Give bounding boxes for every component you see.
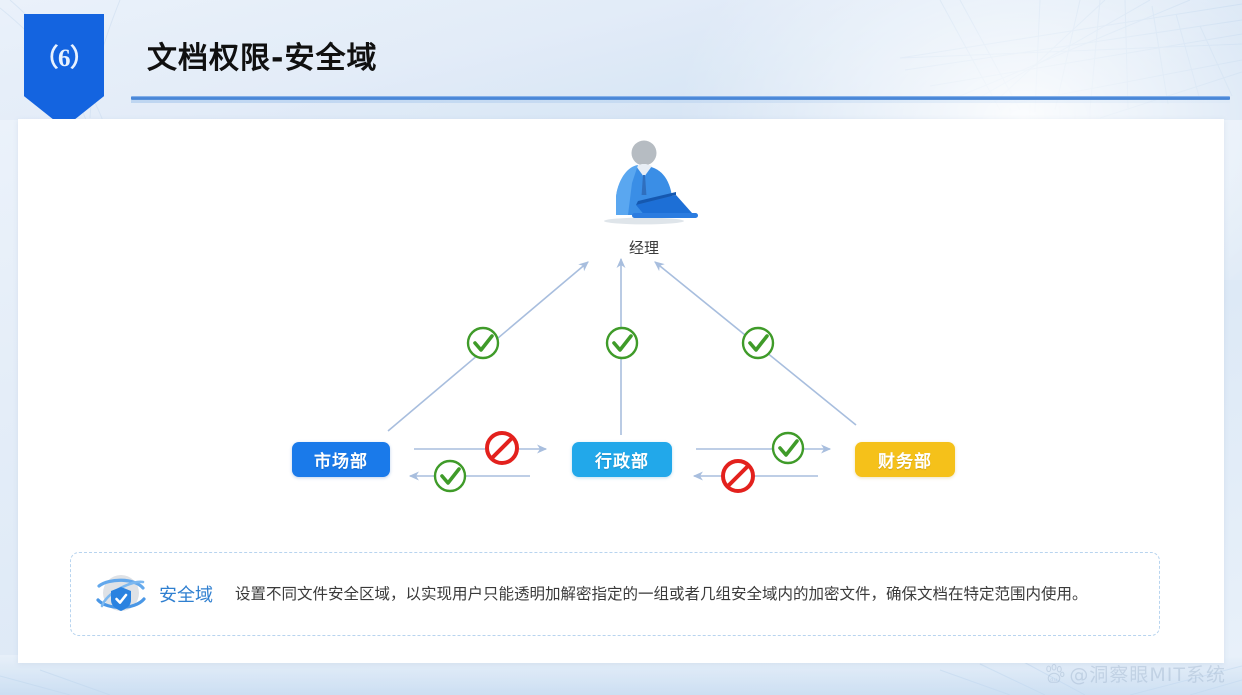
manager-node: 经理 bbox=[584, 139, 704, 258]
svg-text:du: du bbox=[1050, 676, 1058, 682]
baidu-paw-icon: du bbox=[1043, 663, 1065, 685]
dept-label-market: 市场部 bbox=[314, 447, 368, 472]
dept-box-market[interactable]: 市场部 bbox=[292, 442, 390, 477]
allow-marker-admin-to-finance bbox=[773, 433, 803, 463]
dept-label-admin: 行政部 bbox=[595, 447, 649, 472]
dept-box-admin[interactable]: 行政部 bbox=[572, 442, 672, 477]
note-title: 安全域 bbox=[159, 581, 213, 607]
content-panel: 经理 市场部 行政部 财务部 安全域 设置不同文件安全区域，以实现用户只能透明加… bbox=[18, 119, 1224, 663]
allow-marker-admin-to-market bbox=[435, 461, 465, 491]
deny-marker-market-to-admin bbox=[487, 433, 517, 463]
security-domain-note: 安全域 设置不同文件安全区域，以实现用户只能透明加解密指定的一组或者几组安全域内… bbox=[70, 552, 1160, 636]
page-title: 文档权限-安全域 bbox=[147, 33, 377, 77]
manager-person-laptop-icon bbox=[584, 139, 704, 231]
note-body: 设置不同文件安全区域，以实现用户只能透明加解密指定的一组或者几组安全域内的加密文… bbox=[235, 582, 1088, 606]
link-lines bbox=[388, 259, 856, 435]
slide-number-label: （6） bbox=[33, 38, 94, 74]
watermark: du @洞察眼MIT系统 bbox=[1043, 660, 1226, 687]
security-domain-shield-globe-icon bbox=[93, 568, 149, 620]
title-divider bbox=[131, 96, 1230, 100]
dept-box-finance[interactable]: 财务部 bbox=[855, 442, 955, 477]
allow-marker-market bbox=[468, 328, 498, 358]
watermark-text: @洞察眼MIT系统 bbox=[1069, 660, 1226, 687]
allow-marker-finance bbox=[743, 328, 773, 358]
allow-marker-admin bbox=[607, 328, 637, 358]
dept-label-finance: 财务部 bbox=[878, 447, 932, 472]
manager-label: 经理 bbox=[584, 237, 704, 258]
deny-marker-finance-to-admin bbox=[723, 461, 753, 491]
slide-root: （6） 文档权限-安全域 bbox=[0, 0, 1242, 695]
slide-number-badge: （6） bbox=[24, 14, 104, 128]
